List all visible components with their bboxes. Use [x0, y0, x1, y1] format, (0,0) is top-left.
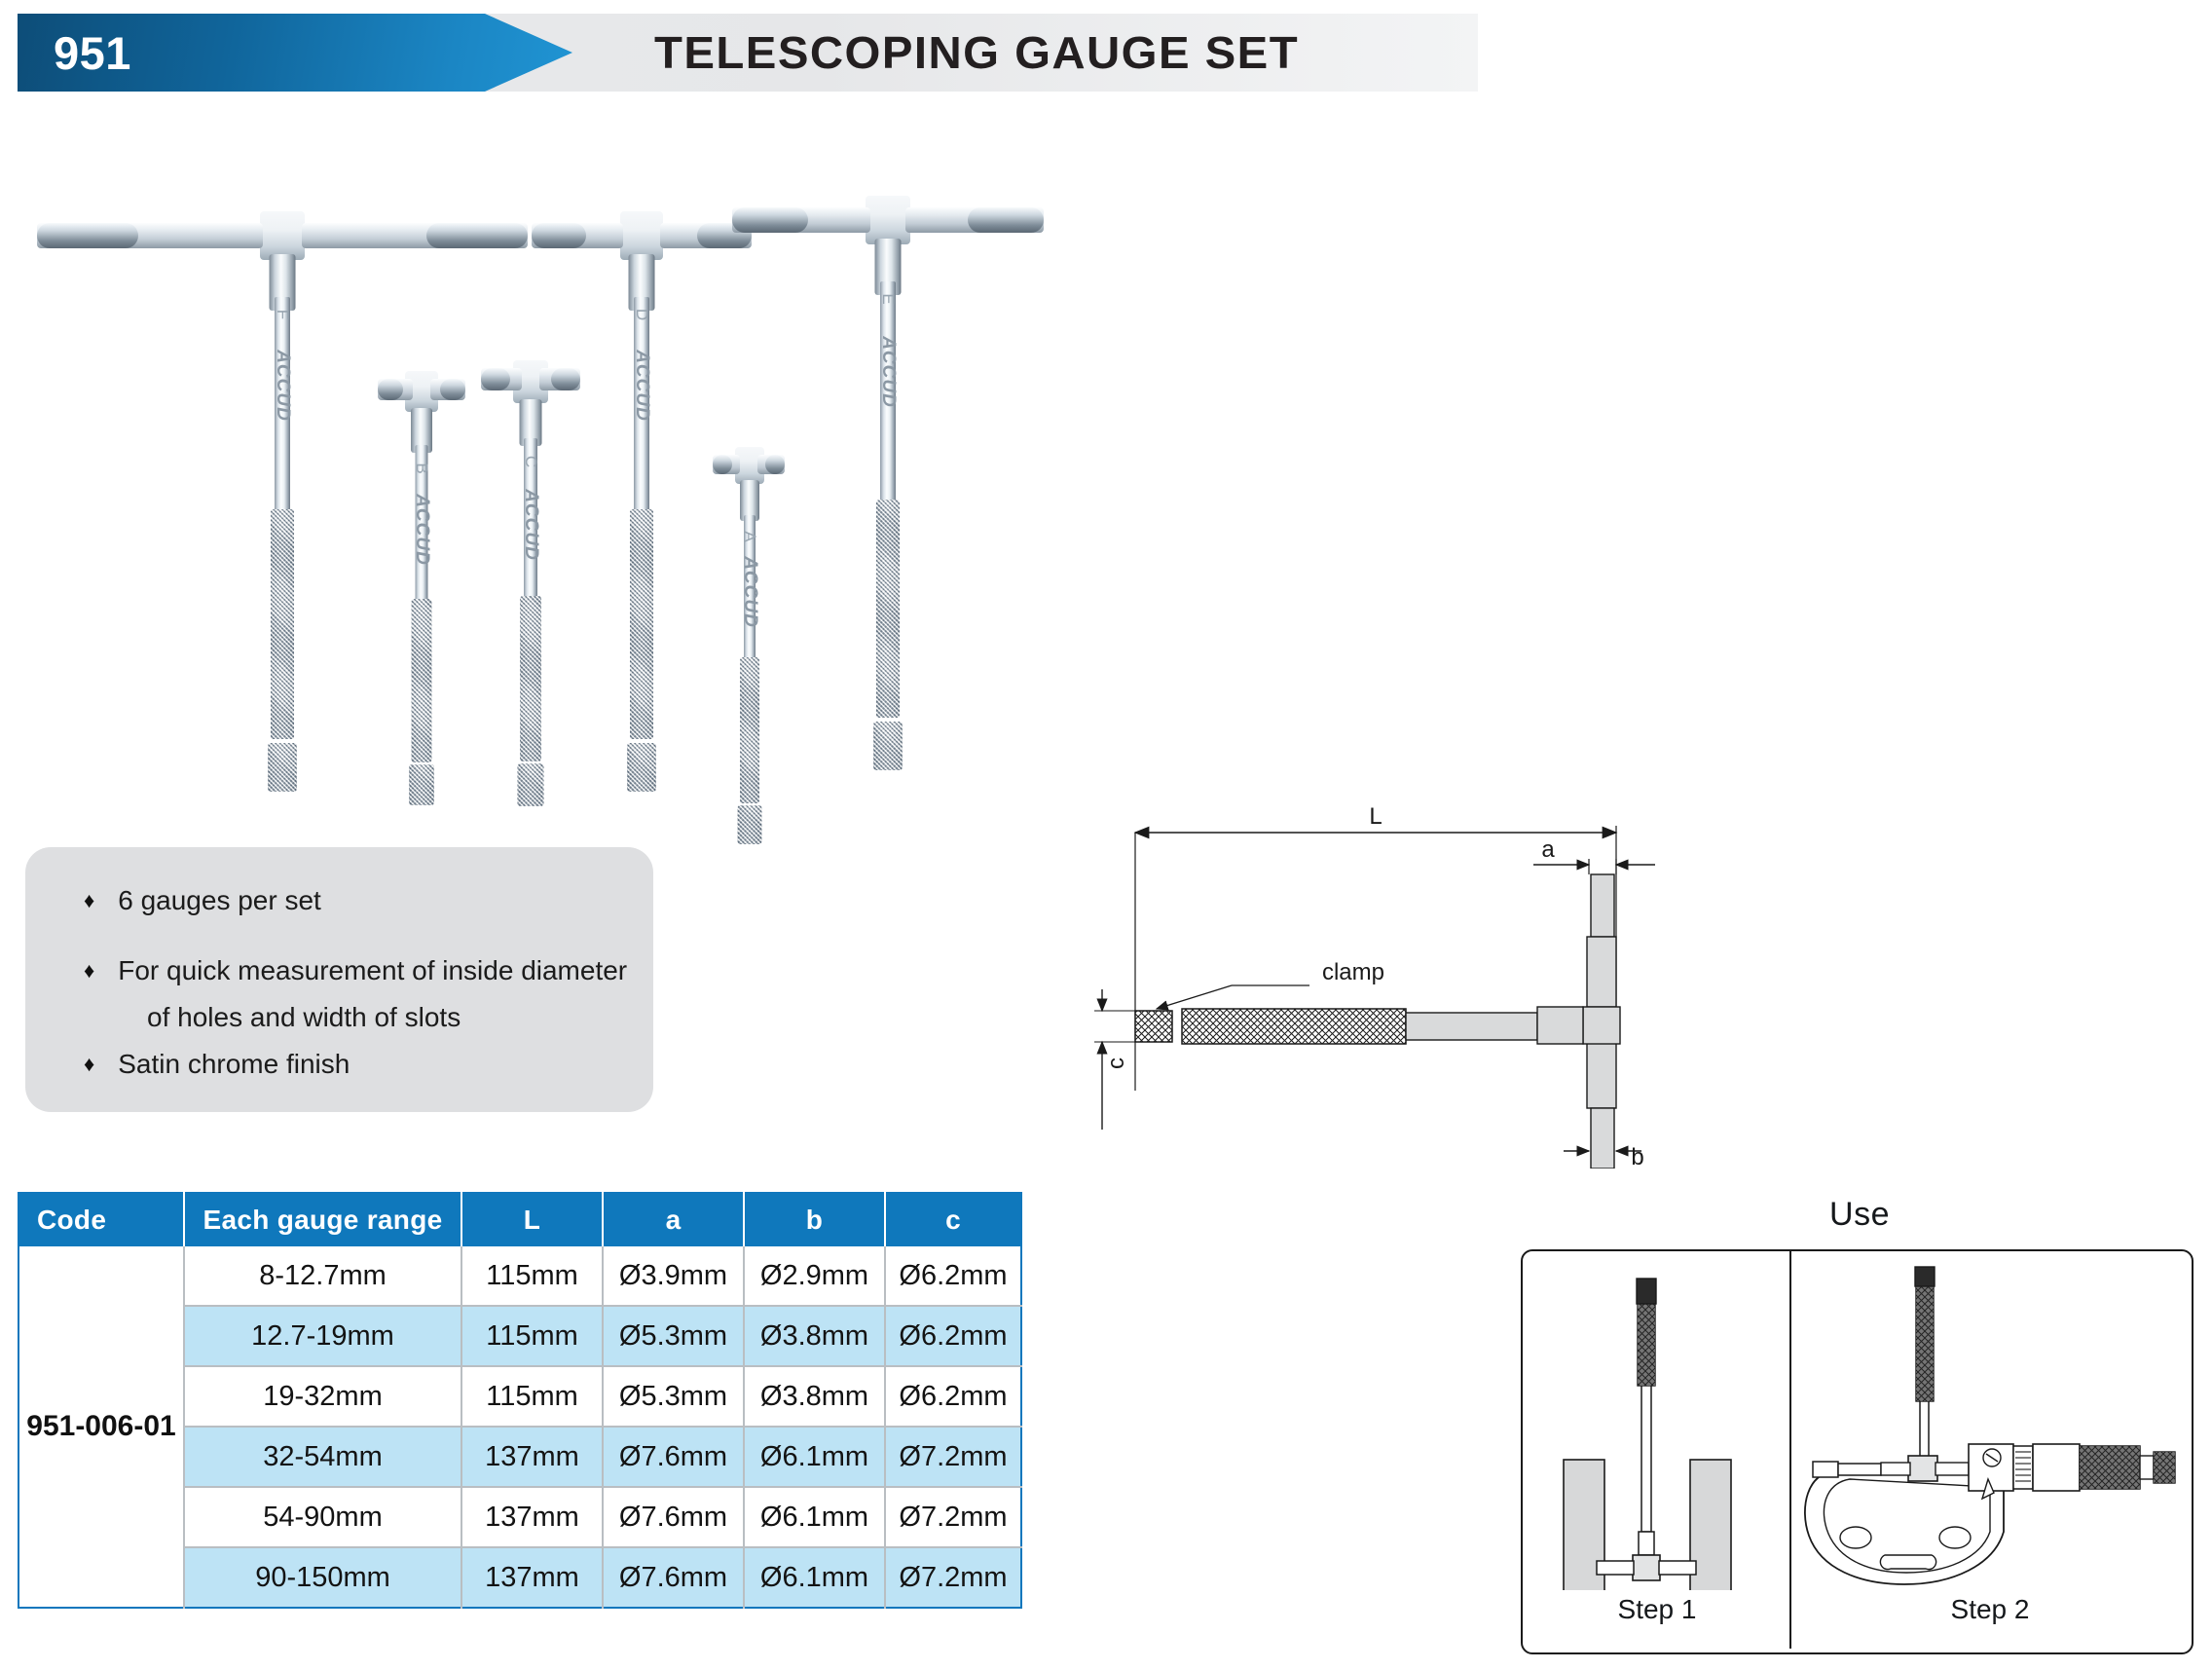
column-header-a: a [603, 1193, 744, 1246]
step2-label: Step 2 [1795, 1594, 2185, 1625]
cell-b: Ø3.8mm [744, 1366, 885, 1427]
cell-range: 8-12.7mm [184, 1246, 461, 1306]
column-header-c: c [885, 1193, 1021, 1246]
cell-L: 115mm [461, 1366, 603, 1427]
gauge-arm-right-tip [440, 379, 465, 400]
feature-text: For quick measurement of inside diameter [118, 954, 627, 987]
product-code-badge: 951 [54, 14, 131, 92]
cell-range: 54-90mm [184, 1487, 461, 1547]
gauge-clamp-cap [873, 722, 903, 770]
dim-label-L: L [1369, 803, 1382, 830]
cell-a: Ø5.3mm [603, 1306, 744, 1366]
gauge-arm-left-tip [481, 368, 510, 390]
dim-label-clamp: clamp [1322, 959, 1384, 985]
features-panel: ♦ 6 gauges per set ♦ For quick measureme… [25, 847, 653, 1112]
cell-L: 115mm [461, 1306, 603, 1366]
cell-L: 115mm [461, 1246, 603, 1306]
brand-mark: ACCUD [631, 350, 652, 422]
feature-item-3: ♦ Satin chrome finish [84, 1048, 350, 1081]
gauge-D: D ACCUD [613, 200, 670, 648]
gauge-C: C ACCUD [506, 273, 555, 648]
gauge-arm-left-tip [378, 379, 403, 400]
product-photo: F ACCUD B ACCUD C ACCUD [19, 97, 1451, 808]
cell-c: Ø6.2mm [885, 1306, 1021, 1366]
column-header-code: Code [18, 1193, 184, 1246]
gauge-head [620, 211, 663, 260]
gauge-clamp-cap [627, 743, 656, 792]
table-row: 951-006-01 8-12.7mm 115mm Ø3.9mm Ø2.9mm … [18, 1246, 1021, 1306]
step1-label: Step 1 [1523, 1594, 1791, 1625]
cell-L: 137mm [461, 1547, 603, 1608]
gauge-arm-left-tip [532, 223, 586, 248]
cell-range: 90-150mm [184, 1547, 461, 1608]
gauge-arm-right-tip [765, 455, 785, 474]
gauge-clamp-cap [409, 764, 434, 805]
gauge-clamp-cap [268, 743, 297, 792]
cell-range: 19-32mm [184, 1366, 461, 1427]
cell-a: Ø7.6mm [603, 1487, 744, 1547]
step1-illustration [1523, 1269, 1791, 1590]
column-header-b: b [744, 1193, 885, 1246]
use-panel-divider [1789, 1251, 1791, 1649]
feature-text: Satin chrome finish [118, 1048, 350, 1081]
use-panel: Step 1 Step 2 [1521, 1249, 2194, 1654]
feature-item-1: ♦ 6 gauges per set [84, 884, 321, 917]
gauge-clamp-cap [518, 763, 544, 806]
column-header-L: L [461, 1193, 603, 1246]
gauge-letter: E [878, 293, 898, 304]
step2-illustration [1795, 1263, 2185, 1594]
gauge-letter: C [521, 456, 540, 467]
gauge-arm-right-tip [426, 223, 528, 248]
cell-a: Ø3.9mm [603, 1246, 744, 1306]
cell-L: 137mm [461, 1487, 603, 1547]
gauge-head [866, 196, 910, 244]
feature-item-2: ♦ For quick measurement of inside diamet… [84, 954, 627, 987]
cell-L: 137mm [461, 1427, 603, 1487]
gauge-knurled-grip [876, 500, 900, 718]
gauge-A: A ACCUD [728, 316, 771, 648]
gauge-knurled-grip [271, 509, 294, 739]
gauge-letter: D [632, 309, 651, 320]
cell-range: 32-54mm [184, 1427, 461, 1487]
diamond-bullet-icon: ♦ [84, 1048, 94, 1081]
gauge-knurled-grip [630, 509, 653, 739]
diamond-bullet-icon: ♦ [84, 954, 94, 987]
feature-item-2-continued: of holes and width of slots [147, 1001, 461, 1034]
dim-label-a: a [1541, 836, 1555, 863]
dim-label-c: c [1103, 1058, 1129, 1069]
table-header-row: Code Each gauge range L a b c [18, 1193, 1021, 1246]
feature-text: 6 gauges per set [118, 884, 321, 917]
cell-b: Ø2.9mm [744, 1246, 885, 1306]
gauge-clamp-cap [738, 805, 762, 844]
gauge-letter: A [740, 531, 759, 541]
cell-b: Ø6.1mm [744, 1547, 885, 1608]
cell-c: Ø7.2mm [885, 1487, 1021, 1547]
gauge-arm-right-tip [551, 368, 580, 390]
gauge-B: B ACCUD [399, 278, 444, 648]
gauge-arm-left-tip [732, 207, 808, 233]
cell-b: Ø3.8mm [744, 1306, 885, 1366]
gauge-letter: F [273, 310, 292, 319]
cell-a: Ø7.6mm [603, 1427, 744, 1487]
gauge-letter: B [412, 463, 431, 473]
use-section-title: Use [1519, 1196, 2200, 1234]
column-header-range: Each gauge range [184, 1193, 461, 1246]
gauge-knurled-grip [520, 596, 541, 761]
brand-mark: ACCUD [411, 494, 432, 566]
gauge-arm-left-tip [37, 223, 138, 248]
diamond-bullet-icon: ♦ [84, 884, 94, 917]
cell-c: Ø7.2mm [885, 1427, 1021, 1487]
brand-mark: ACCUD [272, 350, 293, 422]
brand-mark: ACCUD [739, 556, 760, 628]
page-title: TELESCOPING GAUGE SET [654, 14, 1299, 92]
gauge-knurled-grip [412, 599, 432, 762]
gauge-knurled-grip [740, 657, 759, 803]
cell-c: Ø6.2mm [885, 1366, 1021, 1427]
cell-c: Ø7.2mm [885, 1547, 1021, 1608]
gauge-E: E ACCUD [859, 190, 917, 648]
dim-label-b: b [1631, 1144, 1643, 1169]
gauge-head [260, 211, 305, 260]
cell-b: Ø6.1mm [744, 1427, 885, 1487]
gauge-F: F ACCUD [253, 200, 312, 648]
cell-a: Ø7.6mm [603, 1547, 744, 1608]
dimension-diagram: L a clamp c b [1090, 798, 1694, 1169]
cell-product-code: 951-006-01 [18, 1246, 184, 1608]
cell-a: Ø5.3mm [603, 1366, 744, 1427]
brand-mark: ACCUD [877, 336, 899, 408]
cell-range: 12.7-19mm [184, 1306, 461, 1366]
cell-c: Ø6.2mm [885, 1246, 1021, 1306]
gauge-arm-left-tip [713, 455, 732, 474]
cell-b: Ø6.1mm [744, 1487, 885, 1547]
gauge-arm-right-tip [968, 207, 1044, 233]
specification-table: Code Each gauge range L a b c 951-006-01… [18, 1192, 1022, 1609]
brand-mark: ACCUD [520, 489, 541, 561]
